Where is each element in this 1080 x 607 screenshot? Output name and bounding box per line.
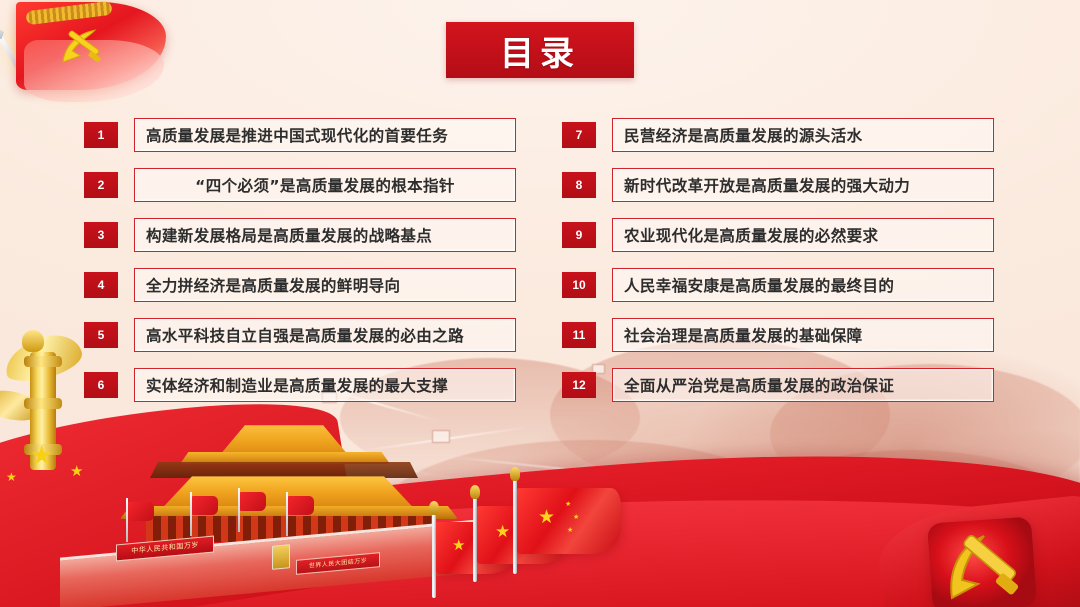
toc-item[interactable]: 10人民幸福安康是高质量发展的最终目的	[562, 268, 994, 302]
toc-item-label: 全力拼经济是高质量发展的鲜明导向	[135, 274, 400, 296]
toc-item-box[interactable]: 社会治理是高质量发展的基础保障	[612, 318, 994, 352]
toc-item-box[interactable]: 实体经济和制造业是高质量发展的最大支撑	[134, 368, 516, 402]
toc-item-box[interactable]: 民营经济是高质量发展的源头活水	[612, 118, 994, 152]
toc-item[interactable]: 11社会治理是高质量发展的基础保障	[562, 318, 994, 352]
toc-item-label: 民营经济是高质量发展的源头活水	[613, 124, 863, 146]
toc-item[interactable]: 12全面从严治党是高质量发展的政治保证	[562, 368, 994, 402]
toc-column-right: 7民营经济是高质量发展的源头活水8新时代改革开放是高质量发展的强大动力9农业现代…	[562, 118, 994, 418]
toc-item-number: 10	[562, 272, 596, 298]
toc-item-box[interactable]: “四个必须”是高质量发展的根本指针	[134, 168, 516, 202]
toc-item[interactable]: 9农业现代化是高质量发展的必然要求	[562, 218, 994, 252]
toc-item-label: 全面从严治党是高质量发展的政治保证	[613, 374, 894, 396]
toc-item-number: 8	[562, 172, 596, 198]
toc-item-label: 高水平科技自立自强是高质量发展的必由之路	[135, 324, 464, 346]
toc-item-number: 11	[562, 322, 596, 348]
toc-item-box[interactable]: 全力拼经济是高质量发展的鲜明导向	[134, 268, 516, 302]
toc-item-box[interactable]: 高质量发展是推进中国式现代化的首要任务	[134, 118, 516, 152]
toc-item-box[interactable]: 农业现代化是高质量发展的必然要求	[612, 218, 994, 252]
toc-item-number: 5	[84, 322, 118, 348]
toc-item-box[interactable]: 全面从严治党是高质量发展的政治保证	[612, 368, 994, 402]
toc-item-number: 12	[562, 372, 596, 398]
toc-item-label: 构建新发展格局是高质量发展的战略基点	[135, 224, 432, 246]
toc-item-number: 4	[84, 272, 118, 298]
toc-item-label: 新时代改革开放是高质量发展的强大动力	[613, 174, 910, 196]
toc-item-box[interactable]: 新时代改革开放是高质量发展的强大动力	[612, 168, 994, 202]
toc-item-box[interactable]: 人民幸福安康是高质量发展的最终目的	[612, 268, 994, 302]
toc-item-label: 社会治理是高质量发展的基础保障	[613, 324, 863, 346]
toc-item-label: 实体经济和制造业是高质量发展的最大支撑	[135, 374, 448, 396]
toc-item[interactable]: 8新时代改革开放是高质量发展的强大动力	[562, 168, 994, 202]
toc-item-number: 3	[84, 222, 118, 248]
table-of-contents: 1高质量发展是推进中国式现代化的首要任务2“四个必须”是高质量发展的根本指针3构…	[0, 0, 1080, 607]
toc-item-box[interactable]: 构建新发展格局是高质量发展的战略基点	[134, 218, 516, 252]
toc-item-number: 9	[562, 222, 596, 248]
toc-item-label: 人民幸福安康是高质量发展的最终目的	[613, 274, 894, 296]
toc-item[interactable]: 2“四个必须”是高质量发展的根本指针	[84, 168, 516, 202]
toc-item-number: 6	[84, 372, 118, 398]
toc-item[interactable]: 5高水平科技自立自强是高质量发展的必由之路	[84, 318, 516, 352]
toc-column-left: 1高质量发展是推进中国式现代化的首要任务2“四个必须”是高质量发展的根本指针3构…	[84, 118, 516, 418]
toc-item-box[interactable]: 高水平科技自立自强是高质量发展的必由之路	[134, 318, 516, 352]
toc-item-number: 2	[84, 172, 118, 198]
slide-canvas: ★ ★ ★ 中华人民共和国万岁 世界人民大团结万岁 ★ ★ ★ ★	[0, 0, 1080, 607]
toc-item-label: “四个必须”是高质量发展的根本指针	[135, 174, 515, 196]
toc-item-label: 农业现代化是高质量发展的必然要求	[613, 224, 878, 246]
toc-item-number: 7	[562, 122, 596, 148]
toc-item-label: 高质量发展是推进中国式现代化的首要任务	[135, 124, 448, 146]
toc-item[interactable]: 6实体经济和制造业是高质量发展的最大支撑	[84, 368, 516, 402]
toc-item[interactable]: 7民营经济是高质量发展的源头活水	[562, 118, 994, 152]
toc-item-number: 1	[84, 122, 118, 148]
toc-item[interactable]: 3构建新发展格局是高质量发展的战略基点	[84, 218, 516, 252]
toc-item[interactable]: 4全力拼经济是高质量发展的鲜明导向	[84, 268, 516, 302]
toc-item[interactable]: 1高质量发展是推进中国式现代化的首要任务	[84, 118, 516, 152]
